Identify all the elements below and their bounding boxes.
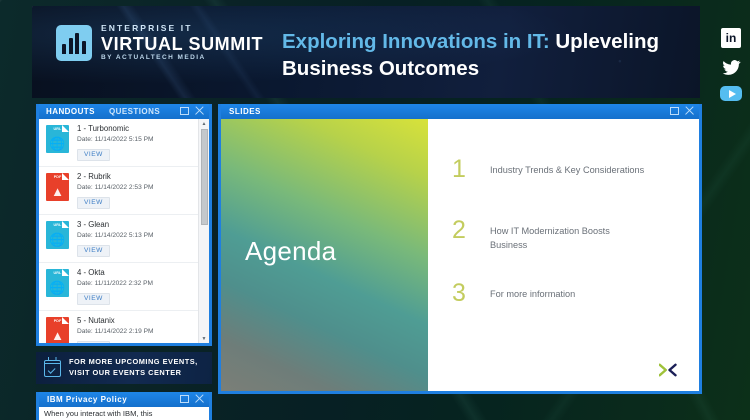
agenda-number: 2: [452, 218, 466, 243]
calendar-check-icon: [44, 360, 61, 377]
handouts-scrollbar[interactable]: ▲ ▼: [198, 119, 209, 343]
pdf-file-icon: PDF ▲: [46, 317, 69, 343]
url-file-icon: URL 🌐: [46, 221, 69, 249]
list-item[interactable]: URL 🌐 4 - Okta Date: 11/11/2022 2:32 PM …: [39, 263, 198, 311]
slides-title-bar: SLIDES: [221, 104, 699, 119]
scrollbar-thumb[interactable]: [201, 129, 208, 225]
globe-icon: 🌐: [46, 233, 69, 246]
globe-icon: 🌐: [46, 281, 69, 294]
brand-eyebrow: ENTERPRISE IT: [101, 24, 263, 33]
handout-date: Date: 11/14/2022 5:15 PM: [77, 136, 154, 143]
handout-date: Date: 11/14/2022 5:13 PM: [77, 232, 154, 239]
view-button[interactable]: VIEW: [77, 341, 110, 343]
maximize-icon[interactable]: [670, 107, 679, 115]
slide-heading: Agenda: [245, 236, 336, 267]
linkedin-label: in: [726, 32, 737, 44]
file-type-label: URL: [54, 271, 62, 275]
brand-name: VIRTUAL SUMMIT: [101, 35, 263, 53]
brand-logo: ENTERPRISE IT VIRTUAL SUMMIT BY ACTUALTE…: [56, 24, 263, 62]
agenda-text: How IT Modernization Boosts Business: [490, 218, 640, 253]
url-file-icon: URL 🌐: [46, 125, 69, 153]
slides-title: SLIDES: [221, 107, 261, 116]
events-banner-text: FOR MORE UPCOMING EVENTS, VISIT OUR EVEN…: [69, 357, 198, 378]
agenda-text: Industry Trends & Key Considerations: [490, 157, 644, 178]
page-title-highlight: Exploring Innovations in IT:: [282, 30, 550, 53]
twitter-icon[interactable]: [721, 57, 741, 77]
privacy-title: IBM Privacy Policy: [39, 395, 127, 404]
pdf-file-icon: PDF ▲: [46, 173, 69, 201]
file-type-label: URL: [54, 223, 62, 227]
file-type-label: URL: [54, 127, 62, 131]
webinar-console: ENTERPRISE IT VIRTUAL SUMMIT BY ACTUALTE…: [0, 0, 750, 420]
slide-content-block: 1 Industry Trends & Key Considerations 2…: [428, 119, 699, 391]
scroll-up-arrow-icon[interactable]: ▲: [199, 119, 209, 128]
agenda-item: 2 How IT Modernization Boosts Business: [428, 218, 699, 253]
acrobat-icon: ▲: [46, 329, 69, 342]
slide-viewer[interactable]: Agenda 1 Industry Trends & Key Considera…: [221, 119, 699, 391]
agenda-number: 3: [452, 281, 466, 306]
events-banner-line2: VISIT OUR EVENTS CENTER: [69, 368, 198, 379]
handouts-title-bar: HANDOUTS QUESTIONS: [39, 104, 209, 119]
view-button[interactable]: VIEW: [77, 293, 110, 305]
view-button[interactable]: VIEW: [77, 197, 110, 209]
slides-window: SLIDES Agenda 1 Industry Trends & Key Co…: [218, 104, 702, 394]
tab-questions[interactable]: QUESTIONS: [102, 104, 167, 119]
maximize-icon[interactable]: [180, 395, 189, 403]
globe-icon: 🌐: [46, 137, 69, 150]
file-type-label: PDF: [54, 319, 62, 323]
privacy-title-bar: IBM Privacy Policy: [39, 392, 209, 407]
list-item[interactable]: PDF ▲ 5 - Nutanix Date: 11/14/2022 2:19 …: [39, 311, 198, 343]
privacy-body: When you interact with IBM, this: [39, 407, 209, 420]
events-center-banner[interactable]: FOR MORE UPCOMING EVENTS, VISIT OUR EVEN…: [36, 352, 212, 384]
social-links: in: [720, 28, 742, 101]
handout-title: 1 - Turbonomic: [77, 125, 154, 134]
scroll-down-arrow-icon[interactable]: ▼: [199, 334, 209, 343]
slide-title-block: Agenda: [221, 119, 428, 391]
privacy-text: When you interact with IBM, this: [44, 409, 204, 418]
handout-title: 4 - Okta: [77, 269, 153, 278]
handout-title: 5 - Nutanix: [77, 317, 154, 326]
agenda-item: 1 Industry Trends & Key Considerations: [428, 157, 699, 182]
agenda-item: 3 For more information: [428, 281, 699, 306]
vendor-logo-icon: [659, 363, 677, 377]
bar-chart-logo-icon: [56, 25, 92, 61]
close-icon[interactable]: [194, 394, 204, 404]
handout-date: Date: 11/14/2022 2:19 PM: [77, 328, 154, 335]
brand-byline: BY ACTUALTECH MEDIA: [101, 55, 263, 62]
linkedin-icon[interactable]: in: [721, 28, 741, 48]
handouts-body: URL 🌐 1 - Turbonomic Date: 11/14/2022 5:…: [39, 119, 209, 343]
youtube-icon[interactable]: [720, 86, 742, 101]
handout-date: Date: 11/11/2022 2:32 PM: [77, 280, 153, 287]
list-item[interactable]: PDF ▲ 2 - Rubrik Date: 11/14/2022 2:53 P…: [39, 167, 198, 215]
view-button[interactable]: VIEW: [77, 245, 110, 257]
agenda-number: 1: [452, 157, 466, 182]
events-banner-line1: FOR MORE UPCOMING EVENTS,: [69, 357, 198, 368]
page-title: Exploring Innovations in IT: Upleveling …: [282, 28, 682, 82]
list-item[interactable]: URL 🌐 1 - Turbonomic Date: 11/14/2022 5:…: [39, 119, 198, 167]
event-header-banner: ENTERPRISE IT VIRTUAL SUMMIT BY ACTUALTE…: [32, 6, 700, 98]
url-file-icon: URL 🌐: [46, 269, 69, 297]
handouts-list: URL 🌐 1 - Turbonomic Date: 11/14/2022 5:…: [39, 119, 198, 343]
tab-handouts[interactable]: HANDOUTS: [39, 104, 102, 119]
maximize-icon[interactable]: [180, 107, 189, 115]
handout-date: Date: 11/14/2022 2:53 PM: [77, 184, 154, 191]
view-button[interactable]: VIEW: [77, 149, 110, 161]
list-item[interactable]: URL 🌐 3 - Glean Date: 11/14/2022 5:13 PM…: [39, 215, 198, 263]
handouts-window: HANDOUTS QUESTIONS URL 🌐 1 - Turbonomic …: [36, 104, 212, 346]
file-type-label: PDF: [54, 175, 62, 179]
acrobat-icon: ▲: [46, 185, 69, 198]
agenda-text: For more information: [490, 281, 575, 302]
handout-title: 3 - Glean: [77, 221, 154, 230]
handout-title: 2 - Rubrik: [77, 173, 154, 182]
close-icon[interactable]: [684, 106, 694, 116]
close-icon[interactable]: [194, 106, 204, 116]
privacy-popup-window: IBM Privacy Policy When you interact wit…: [36, 392, 212, 420]
